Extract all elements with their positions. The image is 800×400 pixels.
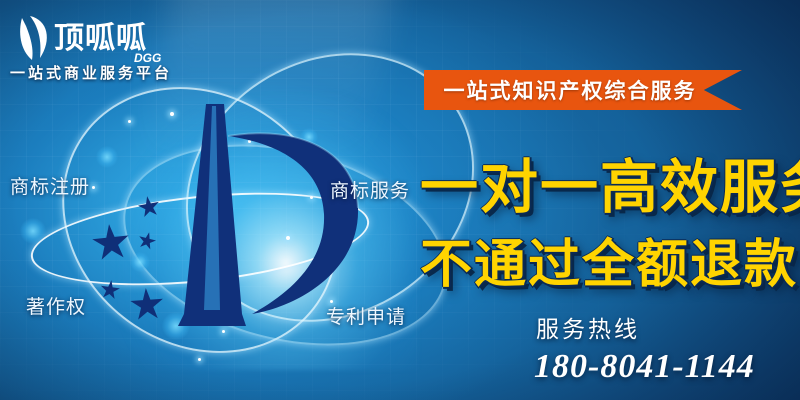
hotline-phone-number[interactable]: 180-8041-1144	[534, 348, 755, 386]
ribbon-banner: 一站式知识产权综合服务	[424, 70, 742, 110]
hotline-label: 服务热线	[536, 310, 640, 344]
service-label-patent-application: 专利申请	[326, 302, 406, 329]
service-label-copyright: 著作权	[26, 292, 86, 319]
headline-secondary: 不通过全额退款	[420, 222, 798, 297]
logo-tagline: 一站式商业服务平台	[10, 62, 172, 83]
service-label-trademark-registration: 商标注册	[10, 172, 90, 199]
ribbon-text: 一站式知识产权综合服务	[444, 75, 723, 105]
headline-primary: 一对一高效服务	[420, 140, 800, 224]
promotional-banner: 顶呱呱 DGG 一站式商业服务平台 商标注册 商标服务 著作权 专利申请 一站式…	[0, 0, 800, 400]
service-label-trademark-service: 商标服务	[330, 176, 410, 203]
